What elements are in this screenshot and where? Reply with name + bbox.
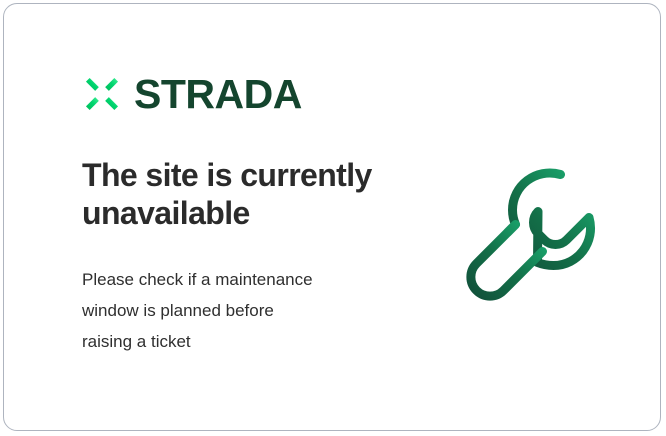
page-title: The site is currently unavailable	[82, 156, 412, 232]
asterisk-star-icon	[80, 72, 124, 116]
description-line-2: window is planned before	[82, 295, 412, 326]
page-description: Please check if a maintenance window is …	[82, 232, 412, 357]
brand-lockup: STRADA	[80, 72, 302, 116]
brand-wordmark: STRADA	[134, 74, 302, 115]
description-line-1: Please check if a maintenance	[82, 264, 412, 295]
description-line-3: raising a ticket	[82, 326, 412, 357]
message-block: The site is currently unavailable Please…	[82, 156, 412, 357]
status-page-card: STRADA The site is currently unavailable…	[3, 3, 661, 431]
wrench-illustration	[456, 156, 616, 316]
wrench-icon	[456, 156, 616, 316]
